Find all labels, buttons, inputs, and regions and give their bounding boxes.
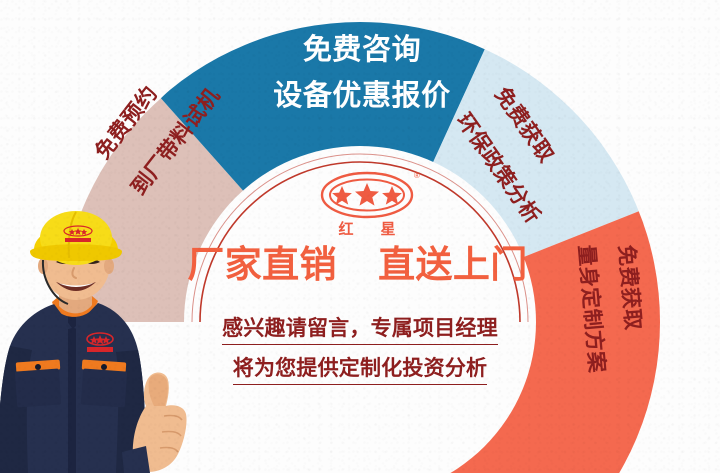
headline: 厂家直销 直送上门 [185, 246, 530, 285]
subtext-line-1: 感兴趣请留言，专属项目经理 [222, 312, 498, 345]
logo-registered-mark: ® [414, 171, 420, 180]
worker-placket [68, 316, 76, 473]
subtext-block: 感兴趣请留言，专属项目经理 将为您提供定制化投资分析 [186, 312, 534, 392]
blue-segment-line1: 免费咨询 [232, 36, 492, 65]
worker-pocket-left [15, 369, 61, 408]
headline-part1: 厂家直销 [187, 244, 336, 285]
logo-brand-text-left: 红 [338, 220, 353, 238]
worker-pocket-right [81, 369, 127, 408]
logo-brand-text-right: 星 [380, 221, 395, 238]
subtext-line-2: 将为您提供定制化投资分析 [233, 352, 488, 385]
banner-canvas: 免费预约 到厂带料试机 免费咨询 设备优惠报价 免费获取 环保政策分析 免费获取… [0, 0, 720, 473]
worker-helmet-brim [30, 244, 122, 261]
headline-part2: 直送上门 [378, 244, 527, 285]
worker-illustration [0, 206, 196, 473]
worker-ear-right [104, 258, 114, 274]
hongxing-logo: ® 红 星 [313, 168, 421, 240]
logo-stars [332, 183, 402, 206]
blue-segment-line2: 设备优惠报价 [232, 82, 492, 111]
worker-pocket-button-right [101, 364, 107, 370]
worker-pocket-button-left [35, 364, 41, 370]
